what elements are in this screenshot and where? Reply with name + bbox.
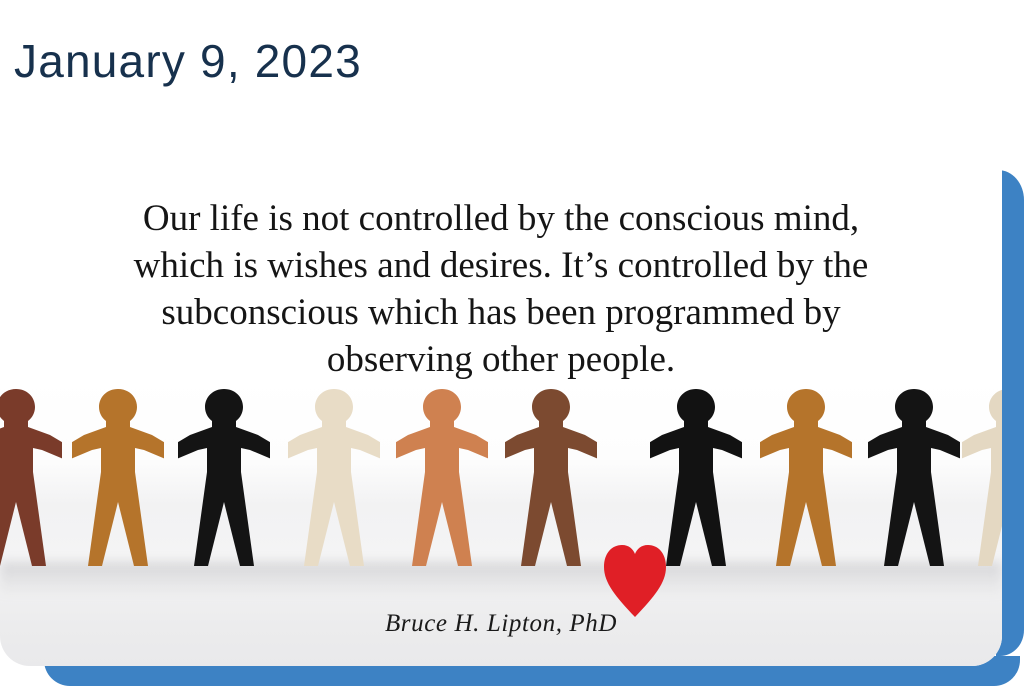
quote-line: which is wishes and desires. It’s contro… xyxy=(0,242,1002,289)
paper-person-figure xyxy=(868,385,960,570)
quote-line: observing other people. xyxy=(0,336,1002,383)
paper-person-figure xyxy=(650,385,742,570)
quote-text: Our life is not controlled by the consci… xyxy=(0,195,1002,383)
paper-people-illustration xyxy=(0,385,1002,570)
paper-person-figure xyxy=(760,385,852,570)
quote-line: subconscious which has been programmed b… xyxy=(0,289,1002,336)
quote-line: Our life is not controlled by the consci… xyxy=(0,195,1002,242)
quote-image-card: Our life is not controlled by the consci… xyxy=(0,110,1002,666)
paper-person-figure xyxy=(396,385,488,570)
paper-person-figure xyxy=(962,385,1002,570)
paper-person-figure xyxy=(288,385,380,570)
heart-icon xyxy=(604,545,666,617)
paper-person-figure xyxy=(0,385,62,570)
page-title: January 9, 2023 xyxy=(14,34,362,88)
paper-person-figure xyxy=(72,385,164,570)
paper-person-figure xyxy=(178,385,270,570)
paper-person-figure xyxy=(505,385,597,570)
quote-attribution: Bruce H. Lipton, PhD xyxy=(0,610,1002,638)
slide-canvas: January 9, 2023 xyxy=(0,0,1024,686)
